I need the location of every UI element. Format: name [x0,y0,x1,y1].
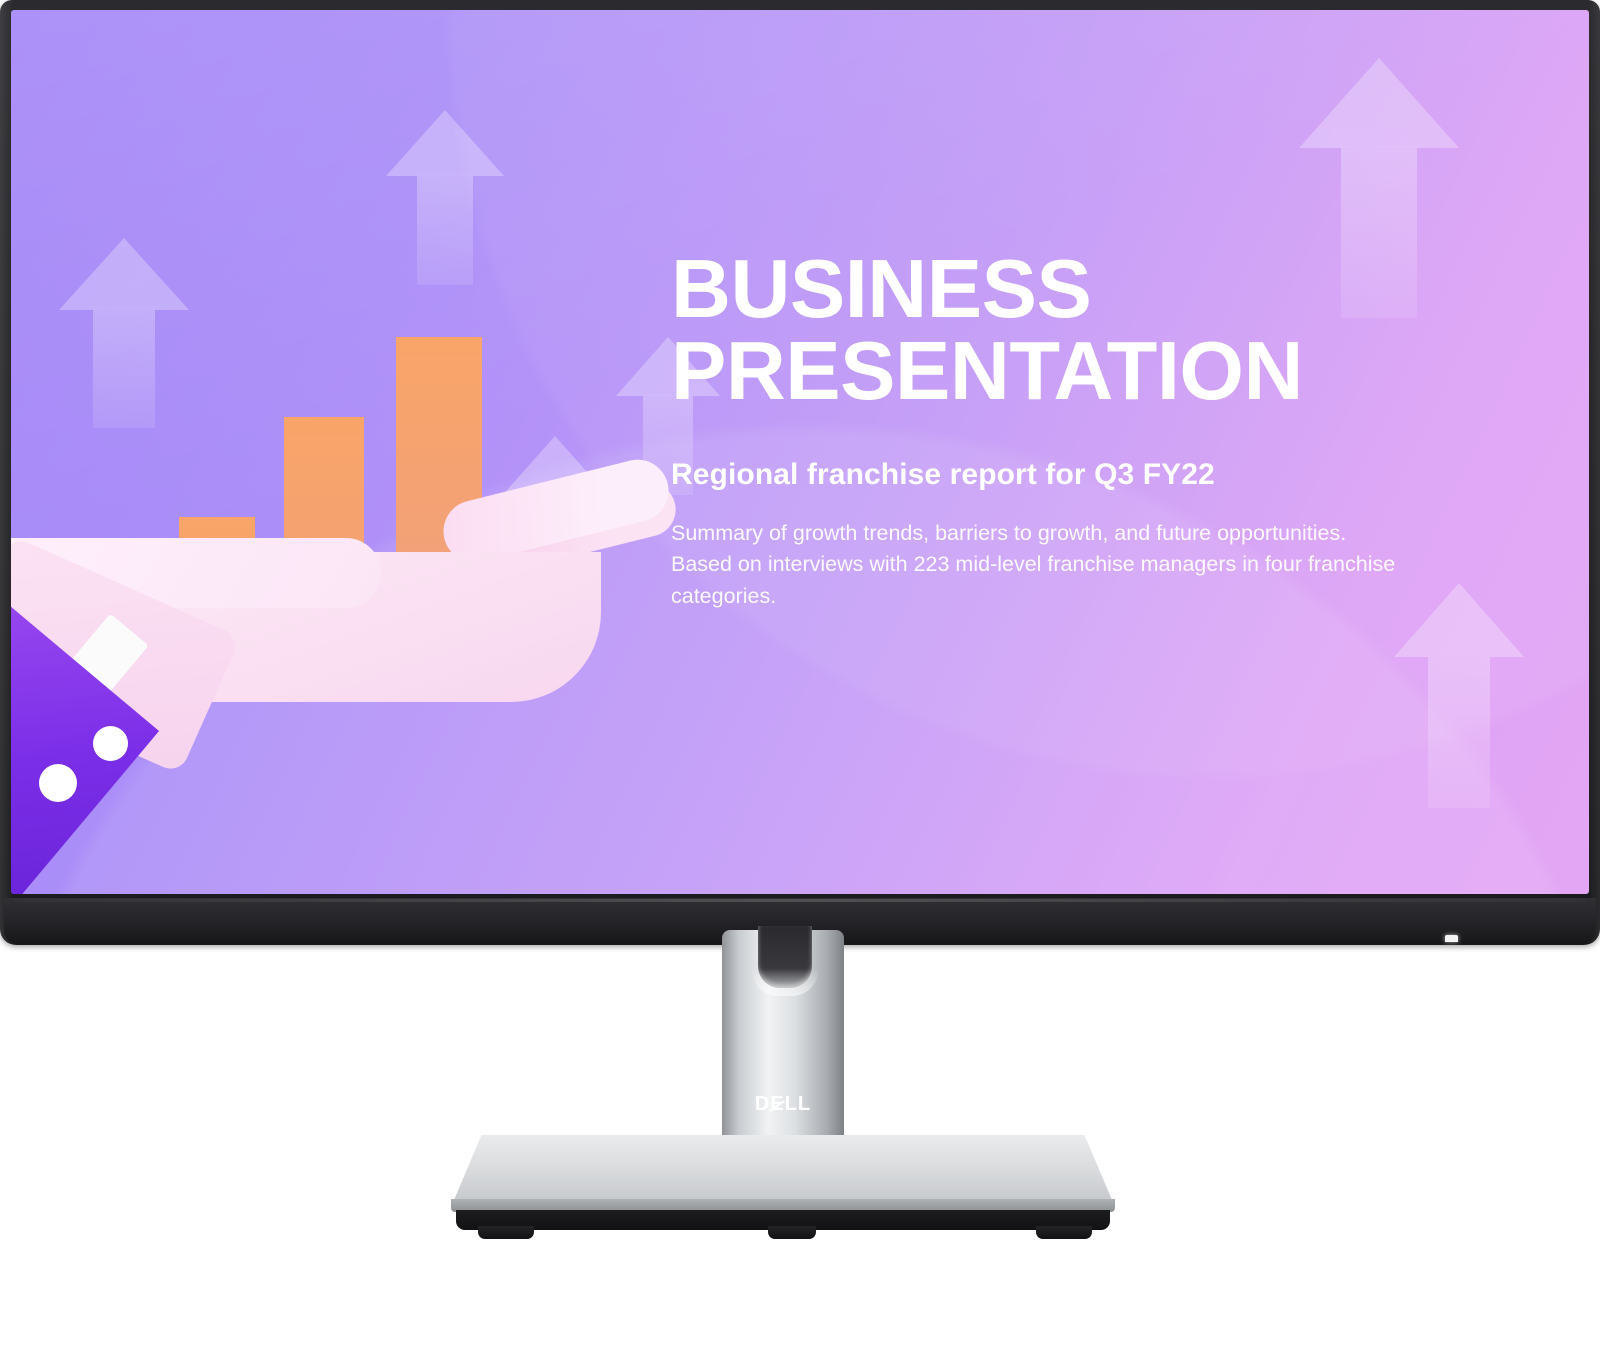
hand-holding-bar-chart-illustration [11,280,631,894]
slide-subtitle: Regional franchise report for Q3 FY22 [671,458,1431,492]
bottom-bezel-highlight [14,899,1586,902]
stand-base-top [451,1135,1115,1207]
dell-logo-l2: L [798,1093,811,1115]
dell-logo-e: E [770,1093,784,1116]
dell-monitor: BUSINESS PRESENTATION Regional franchise… [0,0,1600,945]
arrow-up-left-icon [386,110,504,285]
slide-title-line-2: PRESENTATION [671,330,1431,412]
screenshot-root: BUSINESS PRESENTATION Regional franchise… [0,0,1600,1369]
dell-logo: DELL [722,1093,844,1116]
monitor-stand: DELL [0,930,1600,1240]
cuff-button-1 [93,726,128,761]
cuff-button-2 [39,764,77,802]
dell-logo-d: D [755,1093,770,1115]
dell-logo-l1: L [785,1093,798,1115]
arrow-up-right-low-icon [1394,583,1524,808]
slide-text-block: BUSINESS PRESENTATION Regional franchise… [671,248,1431,612]
monitor-screen[interactable]: BUSINESS PRESENTATION Regional franchise… [11,10,1589,894]
slide-body-text: Summary of growth trends, barriers to gr… [671,518,1411,612]
cable-management-hole [758,926,812,988]
slide-title: BUSINESS PRESENTATION [671,248,1431,412]
stand-foot-left [478,1226,534,1239]
stand-foot-right [1036,1226,1092,1239]
stand-foot-center [768,1226,816,1239]
slide-title-line-1: BUSINESS [671,248,1431,330]
